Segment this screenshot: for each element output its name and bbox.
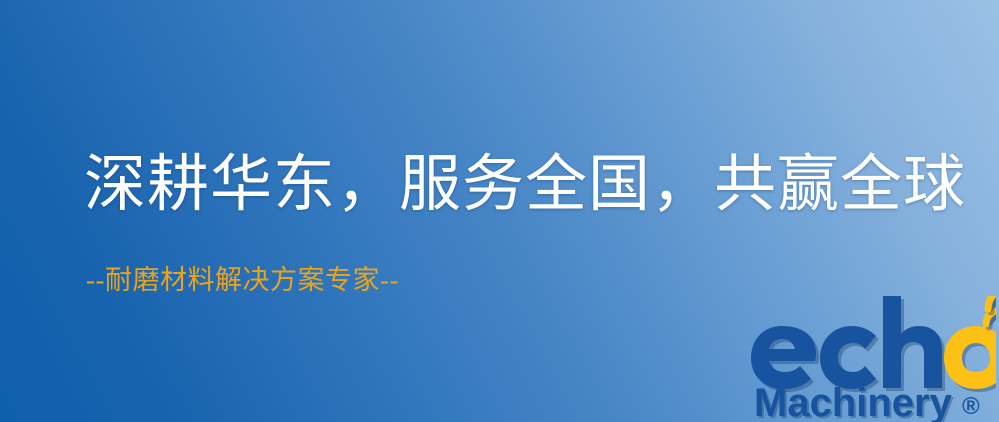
signal-waves-icon: [986, 296, 996, 327]
logo-tagline: Machinery Machinery: [754, 381, 955, 422]
echo-machinery-logo: Machinery Machinery ®: [748, 296, 996, 422]
banner-headline: 深耕华东，服务全国，共赢全球: [84, 152, 966, 219]
registered-mark-icon: ®: [962, 393, 980, 420]
logo-letter-c: [820, 326, 876, 389]
banner-subtitle: --耐磨材料解决方案专家--: [86, 264, 399, 296]
logo-letter-h: [883, 296, 942, 388]
logo-letter-e: [751, 326, 816, 389]
svg-text:Machinery: Machinery: [754, 381, 953, 422]
promo-banner: 深耕华东，服务全国，共赢全球 --耐磨材料解决方案专家--: [0, 0, 999, 422]
svg-text:®: ®: [962, 393, 980, 420]
